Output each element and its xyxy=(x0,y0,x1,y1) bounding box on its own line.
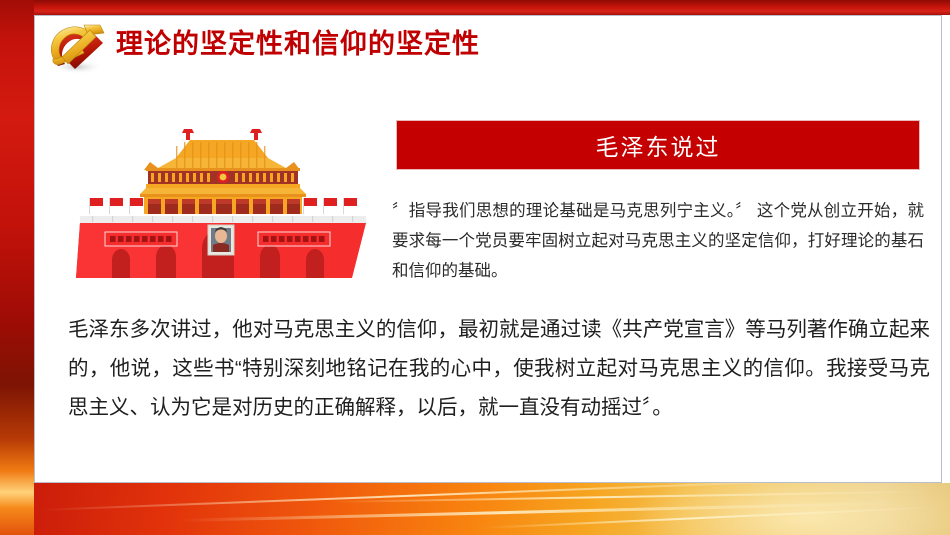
quote-heading-text: 毛泽东说过 xyxy=(596,128,721,162)
slide-canvas: 理论的坚定性和信仰的坚定性 xyxy=(0,0,950,535)
bottom-gold-band xyxy=(0,483,950,535)
mao-portrait xyxy=(208,225,234,255)
quote-heading-box: 毛泽东说过 xyxy=(396,120,920,170)
left-plaque xyxy=(105,232,177,246)
national-emblem-icon xyxy=(217,171,229,183)
body-paragraph: 毛泽东多次讲过，他对马克思主义的信仰，最初就是通过读《共产党宣言》等马列著作确立… xyxy=(68,310,930,427)
quote-paragraph: 〞指导我们思想的理论基础是马克思列宁主义。〞 这个党从创立开始，就要求每一个党员… xyxy=(392,196,924,286)
flag-group-left xyxy=(89,198,143,214)
left-gradient-strip xyxy=(0,0,34,535)
slide-header: 理论的坚定性和信仰的坚定性 xyxy=(34,15,942,78)
right-plaque xyxy=(258,232,330,246)
cpc-hammer-sickle-icon xyxy=(40,17,112,75)
top-red-band xyxy=(0,0,950,15)
flag-group-right xyxy=(303,198,357,214)
tiananmen-gate-illustration xyxy=(72,112,372,292)
page-title: 理论的坚定性和信仰的坚定性 xyxy=(116,24,480,64)
